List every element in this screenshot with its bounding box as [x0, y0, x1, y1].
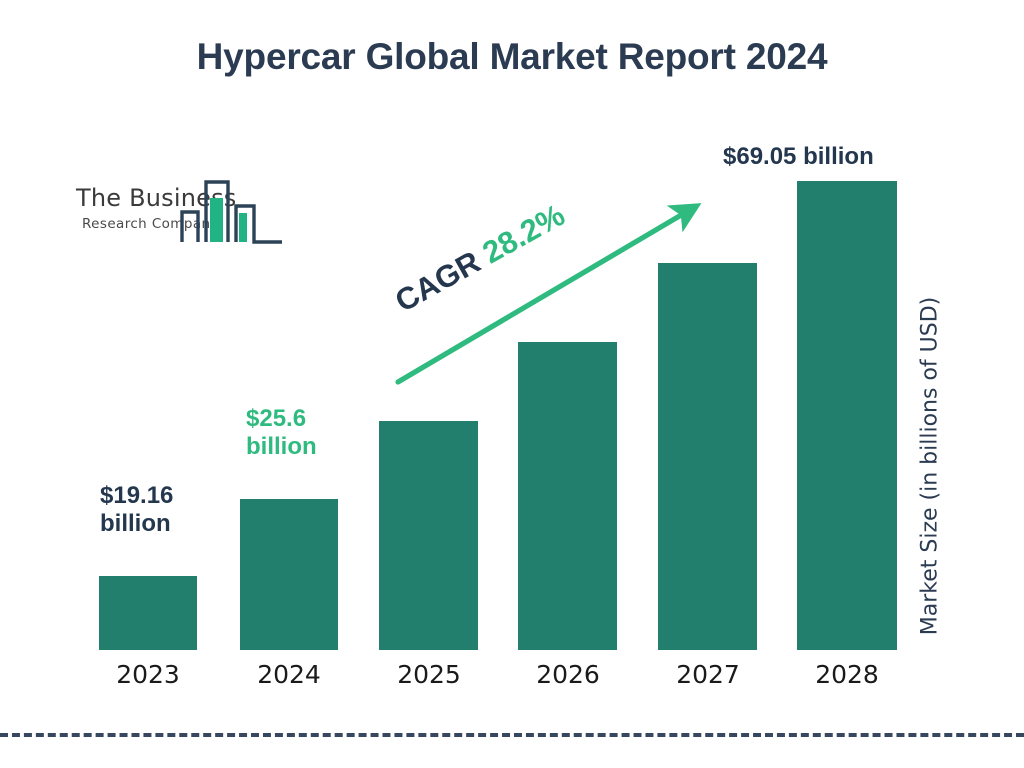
xtick-2026: 2026: [518, 660, 618, 689]
data-label-2023-line1: $19.16: [100, 482, 173, 510]
xtick-2025: 2025: [379, 660, 479, 689]
data-label-2028: $69.05 billion: [723, 143, 874, 171]
xtick-2024: 2024: [239, 660, 339, 689]
xtick-2028: 2028: [797, 660, 897, 689]
y-axis-label: Market Size (in billions of USD): [918, 297, 943, 635]
data-label-2024-line2: billion: [246, 433, 317, 461]
data-label-2028-line1: $69.05 billion: [723, 143, 874, 171]
xtick-2023: 2023: [98, 660, 198, 689]
xtick-2027: 2027: [658, 660, 758, 689]
data-label-2024: $25.6 billion: [246, 405, 317, 461]
bar-chart-plot: $19.16 billion $25.6 billion $69.05 bill…: [0, 0, 1024, 768]
bar-2024: [240, 499, 338, 650]
data-label-2023: $19.16 billion: [100, 482, 173, 538]
data-label-2023-line2: billion: [100, 510, 173, 538]
bar-2025: [379, 421, 478, 650]
data-label-2024-line1: $25.6: [246, 405, 317, 433]
bar-2028: [797, 181, 897, 650]
bar-2023: [99, 576, 197, 650]
footer-divider: [0, 733, 1024, 737]
